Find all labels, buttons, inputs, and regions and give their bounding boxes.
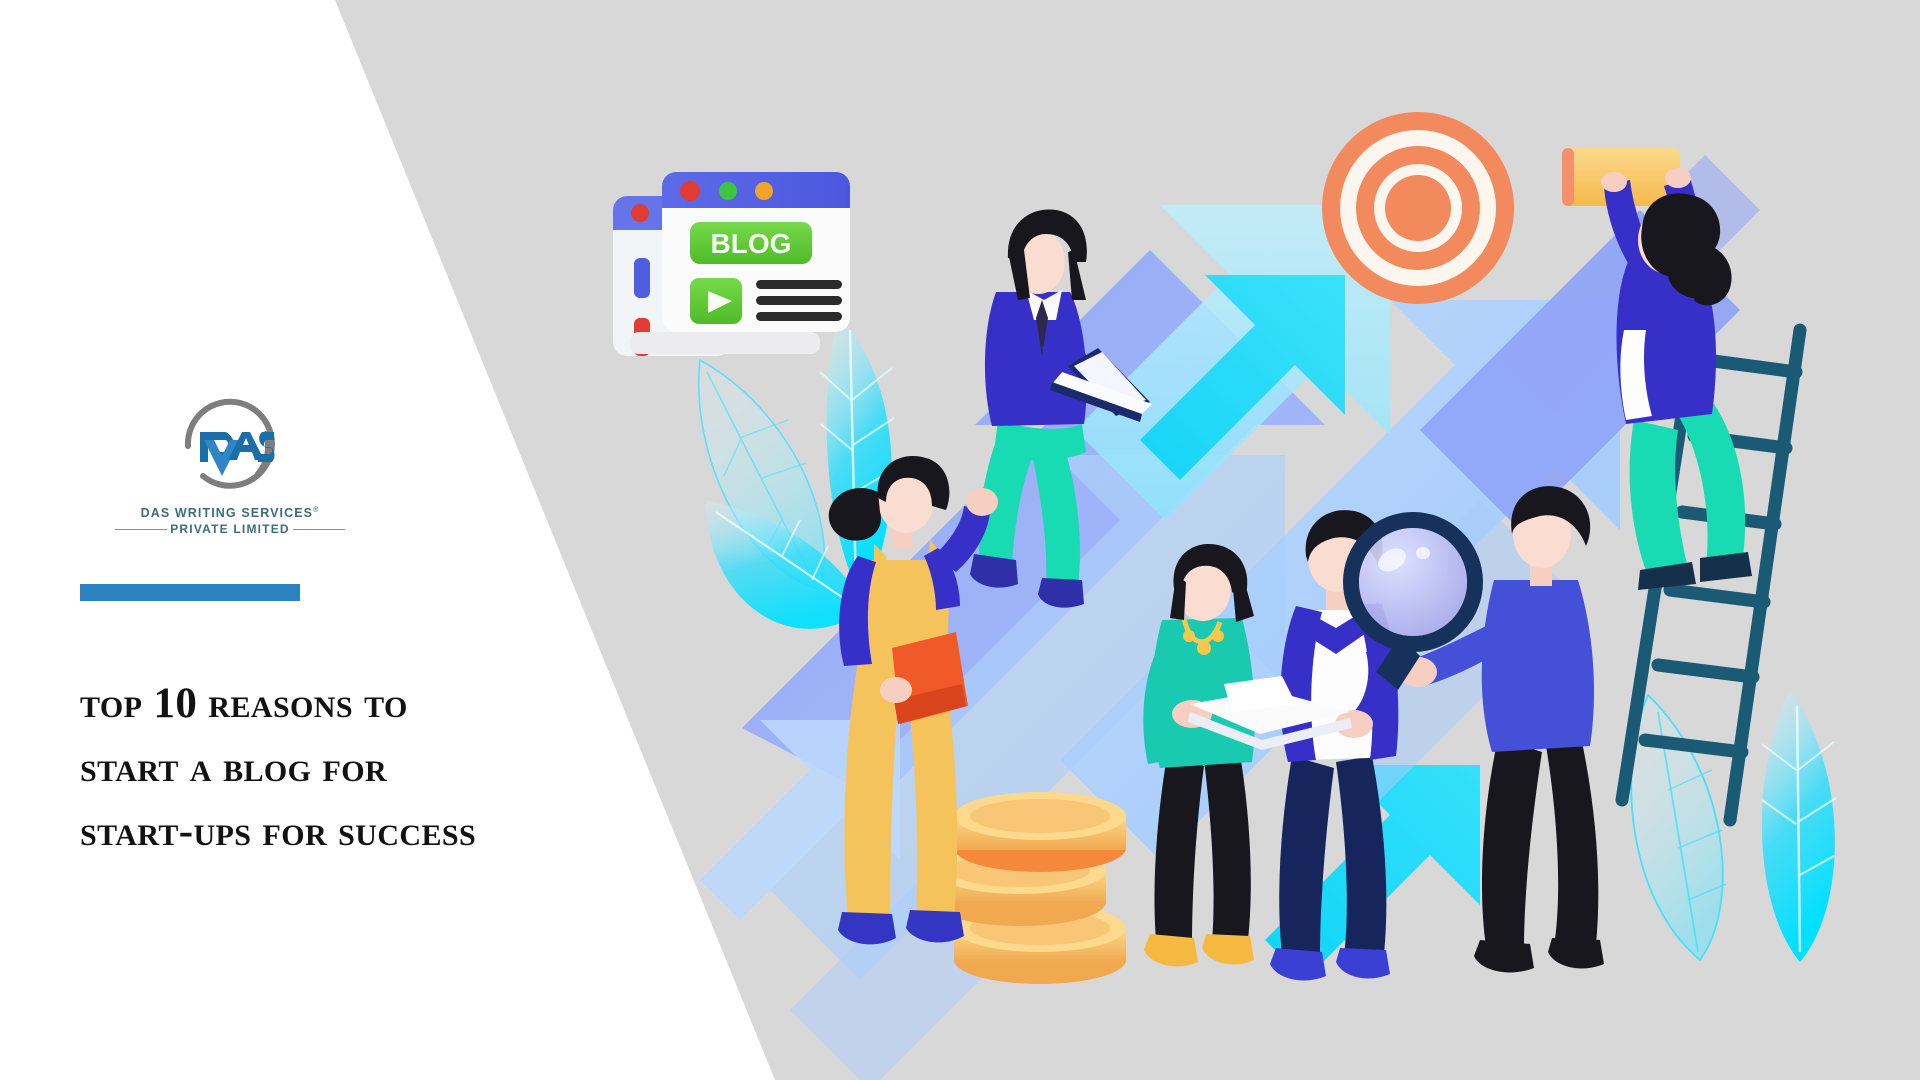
headline-line-3: Start-ups for Success — [80, 800, 600, 864]
brand-logo[interactable]: DAS WRITING SERVICES® PRIVATE LIMITED — [100, 390, 360, 536]
registered-mark: ® — [313, 507, 319, 514]
brand-entity-row: PRIVATE LIMITED — [100, 522, 360, 536]
coin-stack — [934, 792, 1126, 984]
bullseye-target — [1322, 112, 1514, 304]
headline-line-1: Top 10 Reasons to — [80, 672, 600, 736]
leaf-decoration-right-front — [1762, 690, 1836, 962]
das-monogram-icon — [170, 390, 290, 500]
page-title: Top 10 Reasons to Start a Blog for Start… — [80, 672, 600, 864]
left-text-column: DAS WRITING SERVICES® PRIVATE LIMITED To… — [40, 0, 680, 1080]
rule-left — [115, 529, 167, 530]
banner-root: BLOG — [0, 0, 1920, 1080]
blog-badge-text: BLOG — [711, 228, 792, 259]
brand-entity: PRIVATE LIMITED — [170, 522, 290, 536]
headline-line-2: Start a Blog for — [80, 736, 600, 800]
rule-right — [293, 529, 345, 530]
accent-divider — [80, 584, 300, 601]
brand-name: DAS WRITING SERVICES® — [100, 506, 360, 520]
